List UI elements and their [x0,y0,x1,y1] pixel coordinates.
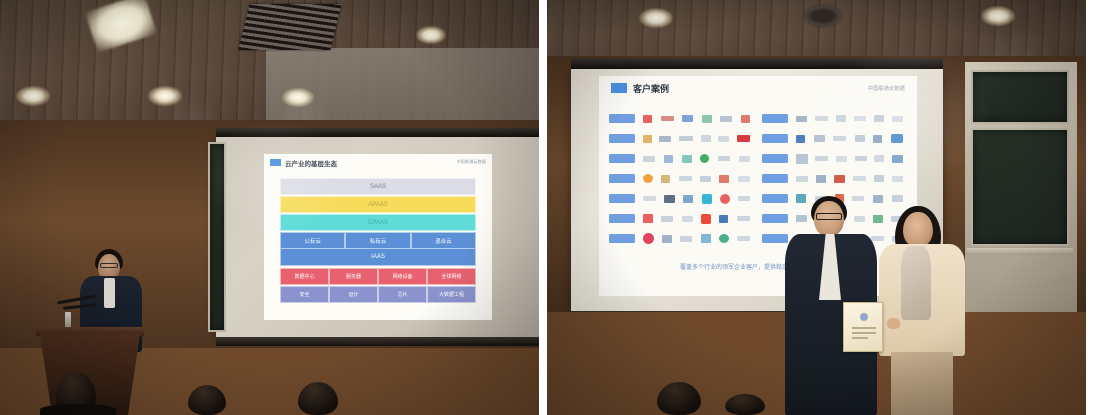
screen-top-rail-right [571,58,943,69]
audience-shoulder-1 [40,404,116,415]
logo-chip [718,136,729,142]
logo-chip [661,216,673,222]
logo-row [609,130,754,147]
logo-chip [720,194,730,204]
cell-iaas: IAAS [280,249,476,266]
logo-chip [873,135,882,143]
logo-chip [741,115,750,123]
audience-head-3 [298,382,338,415]
category-pill [762,154,788,163]
logo-chip [815,116,828,121]
logo-chip [737,135,750,142]
logo-chip [796,116,807,122]
logo-chip [719,215,728,223]
logo-items [639,154,754,163]
logo-chip [702,115,712,123]
cell-saas: SAAS [280,178,476,195]
award-recipient-female[interactable] [869,206,979,415]
logo-items [792,134,907,143]
logo-chip [836,115,846,122]
speaker-glasses-icon [100,263,118,268]
cell-security: 安全 [280,286,329,303]
side-chalkboard [208,142,226,332]
category-pill [609,234,635,243]
logo-items [792,175,907,183]
logo-row [762,170,907,187]
logo-chip [874,155,884,162]
logo-chip [643,196,656,201]
cell-private-cloud: 私有云 [345,232,410,249]
downlight-2 [148,86,182,106]
stack-row-tech: 安全 运计 芯片 大数据工程 [280,286,476,303]
stack-row-cloud-types: 公有云 私有云 混合云 [280,232,476,249]
cell-server: 服务器 [329,268,378,285]
category-pill [762,174,788,183]
logo-row [762,110,907,127]
cell-apaas: APAAS [280,196,476,213]
logo-chip [892,155,903,163]
logo-chip [720,116,732,122]
logo-items [639,115,754,123]
logo-items [639,194,754,204]
cell-network-device: 网络设备 [378,268,427,285]
logo-chip [796,176,808,182]
logo-chip [738,196,750,201]
logo-chip [679,136,693,141]
cell-cpaas: CPAAS [280,214,476,231]
cell-public-cloud: 公有云 [280,232,345,249]
logo-row [609,190,754,207]
logo-chip [700,176,711,182]
logo-chip [683,195,693,203]
slide-title-right: 客户案例 [633,82,669,95]
logo-chip [853,176,866,181]
left-photo[interactable]: 云产业的基层生态 中国联通云数据 SAAS APAAS CPAAS 公有云 [0,0,539,415]
logo-chip [836,156,847,162]
logo-chip [796,135,805,143]
layer-stack: SAAS APAAS CPAAS 公有云 私有云 混合云 IAAS [280,178,476,303]
logo-chip [855,135,865,142]
logo-chip [680,236,692,242]
logo-chip [659,136,671,142]
logo-chip [796,154,808,164]
logo-chip [833,136,846,141]
chalk-tray [967,248,1073,255]
slide-title: 云产业的基层生态 [285,158,337,168]
category-pill [609,154,635,163]
logo-items [639,135,754,143]
logo-chip [815,156,828,161]
cell-ops: 运计 [329,286,378,303]
logo-chip [643,233,654,244]
logo-items [792,115,907,122]
logo-chip [682,115,693,122]
downlight-right-1 [639,8,673,28]
logo-chip [643,135,652,143]
logo-chip [739,156,750,162]
logo-items [639,174,754,183]
logo-items [639,233,754,244]
category-pill [609,194,635,203]
logo-chip [643,174,653,183]
logo-chip [643,115,652,123]
slide-cloud-ecosystem: 云产业的基层生态 中国联通云数据 SAAS APAAS CPAAS 公有云 [264,154,492,320]
cell-hybrid-cloud: 混合云 [411,232,476,249]
plaque-text-line [852,332,876,334]
logo-chip [700,154,709,163]
female-hand [887,318,900,329]
audience-head-right-2 [725,394,765,415]
audience-head-2 [188,385,226,415]
chalkboard-bottom [971,128,1069,246]
logo-chip [874,115,884,122]
logo-row [762,150,907,167]
category-pill [609,174,635,183]
logo-chip [719,234,729,243]
speaker-shirt [104,278,115,308]
category-pill [609,114,635,123]
logo-chip [682,216,693,222]
logo-column-left [609,110,754,250]
plaque-text-line [852,337,868,339]
slide-marker-icon-right [611,83,627,93]
logo-items [639,214,754,224]
screen-bottom-rail [216,337,539,346]
logo-chip [718,156,730,161]
ceiling-vent-icon [238,4,341,50]
projection-screen[interactable]: 云产业的基层生态 中国联通云数据 SAAS APAAS CPAAS 公有云 [216,128,539,346]
logo-chip [737,236,750,241]
downlight-right-2 [981,6,1015,26]
photo-gallery: 云产业的基层生态 中国联通云数据 SAAS APAAS CPAAS 公有云 [0,0,1095,415]
logo-chip [854,116,866,121]
logo-chip [892,195,903,202]
logo-chip [814,135,825,142]
cell-bigdata: 大数据工程 [427,286,476,303]
cell-data-center: 数据中心 [280,268,329,285]
stack-row-saas: SAAS [280,178,476,195]
logo-chip [702,194,712,204]
cell-global-network: 全球网络 [427,268,476,285]
logo-chip [664,155,673,163]
downlight-3 [282,88,314,107]
logo-chip [855,156,867,161]
plaque-text-line [852,327,876,329]
water-bottle [65,312,71,328]
stack-row-apaas: APAAS [280,196,476,213]
category-pill [609,214,635,223]
logo-chip [701,214,711,224]
logo-chip [738,176,750,182]
logo-row [609,150,754,167]
female-trousers [891,352,953,415]
logo-row [609,170,754,187]
stack-row-iaas: IAAS [280,249,476,266]
logo-chip [701,135,711,142]
ceiling-vent-icon-right [805,6,841,26]
logo-chip [719,175,729,183]
female-scarf [901,246,931,320]
audience-head-right-1 [657,382,701,415]
logo-chip [661,175,670,183]
male-glasses-icon [816,213,842,220]
logo-chip [891,134,903,143]
stack-row-cpaas: CPAAS [280,214,476,231]
logo-chip [892,176,903,182]
stack-row-infra: 数据中心 服务器 网络设备 全球网络 [280,268,476,285]
logo-chip [892,116,903,122]
slide-marker-icon [270,159,281,166]
slide-logo-text: 中国联通云数据 [457,159,486,165]
logo-chip [643,156,655,162]
screen-top-rail [216,128,539,137]
slide-logo-text-right: 中国联通云数据 [868,85,905,92]
category-pill [762,114,788,123]
logo-row [762,130,907,147]
logo-chip [643,214,653,223]
female-head [903,212,933,247]
logo-chip [679,176,692,181]
logo-chip [737,216,750,221]
downlight-4 [416,26,446,44]
logo-chip [662,235,672,243]
logo-chip [834,175,845,183]
logo-chip [816,175,826,183]
category-pill [609,134,635,143]
logo-row [609,230,754,247]
downlight-1 [16,86,50,106]
logo-chip [682,155,692,163]
logo-items [792,154,907,164]
right-photo[interactable]: 客户案例 中国联通云数据 [547,0,1086,415]
logo-chip [874,175,884,182]
cell-chip: 芯片 [378,286,427,303]
plaque-emblem-icon [860,313,868,321]
logo-chip [661,116,674,121]
certificate-plaque[interactable] [843,302,883,352]
logo-row [609,110,754,127]
logo-chip [664,195,675,203]
logo-row [609,210,754,227]
chalkboard-top [971,70,1069,124]
category-pill [762,134,788,143]
logo-chip [701,234,711,243]
